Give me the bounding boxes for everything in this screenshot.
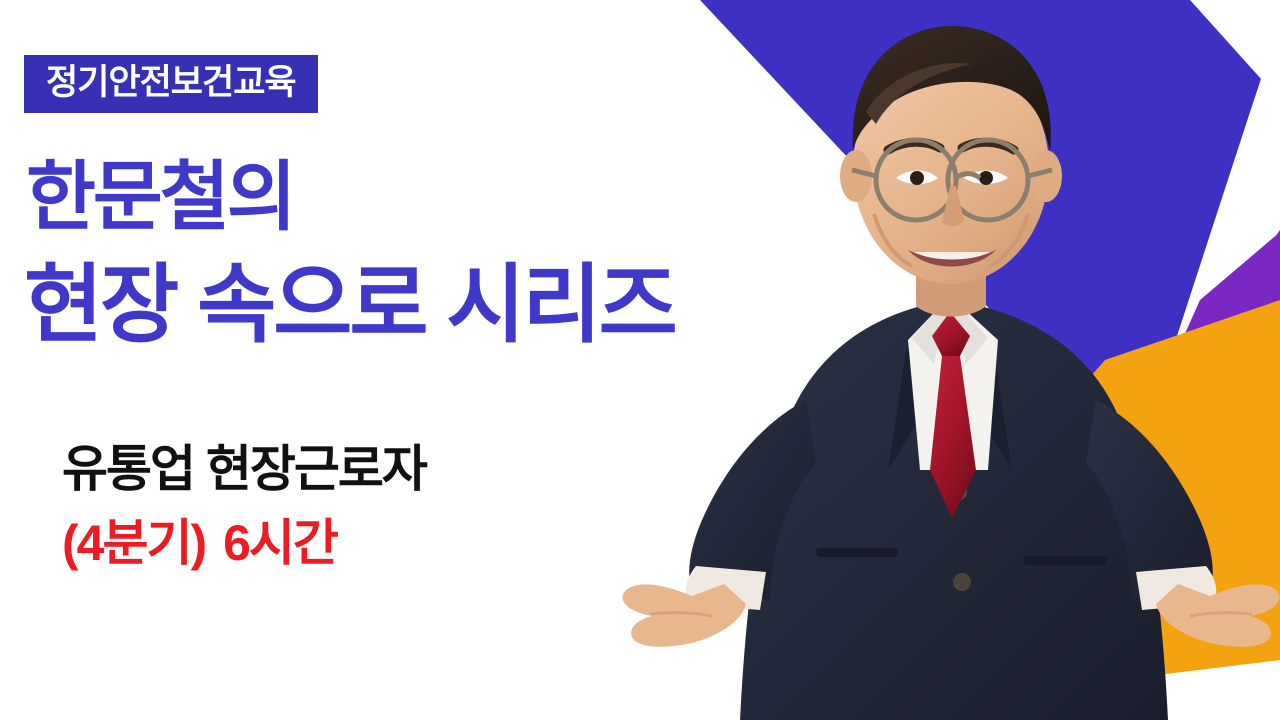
course-category-badge: 정기안전보건교육 (24, 55, 318, 113)
head (840, 26, 1062, 284)
course-target-audience: 유통업 현장근로자 (62, 444, 426, 494)
course-hours-line: (4분기)6시간 (62, 518, 337, 568)
pupil-left (910, 171, 924, 185)
series-main-title: 현장 속으로 시리즈 (24, 262, 675, 348)
suit-pocket-left (816, 548, 898, 557)
suit-button-bottom (953, 573, 971, 591)
suit-pocket-right (1024, 556, 1106, 565)
course-thumbnail: 정기안전보건교육 한문철의 현장 속으로 시리즈 유통업 현장근로자 (4분기)… (0, 0, 1280, 720)
course-quarter-label: (4분기) (62, 515, 205, 571)
series-author-title: 한문철의 (26, 160, 294, 236)
course-duration-label: 6시간 (223, 515, 337, 571)
hand-right (1156, 584, 1280, 647)
hand-left (622, 584, 746, 647)
instructor-portrait (620, 0, 1280, 720)
pupil-right (979, 171, 993, 185)
